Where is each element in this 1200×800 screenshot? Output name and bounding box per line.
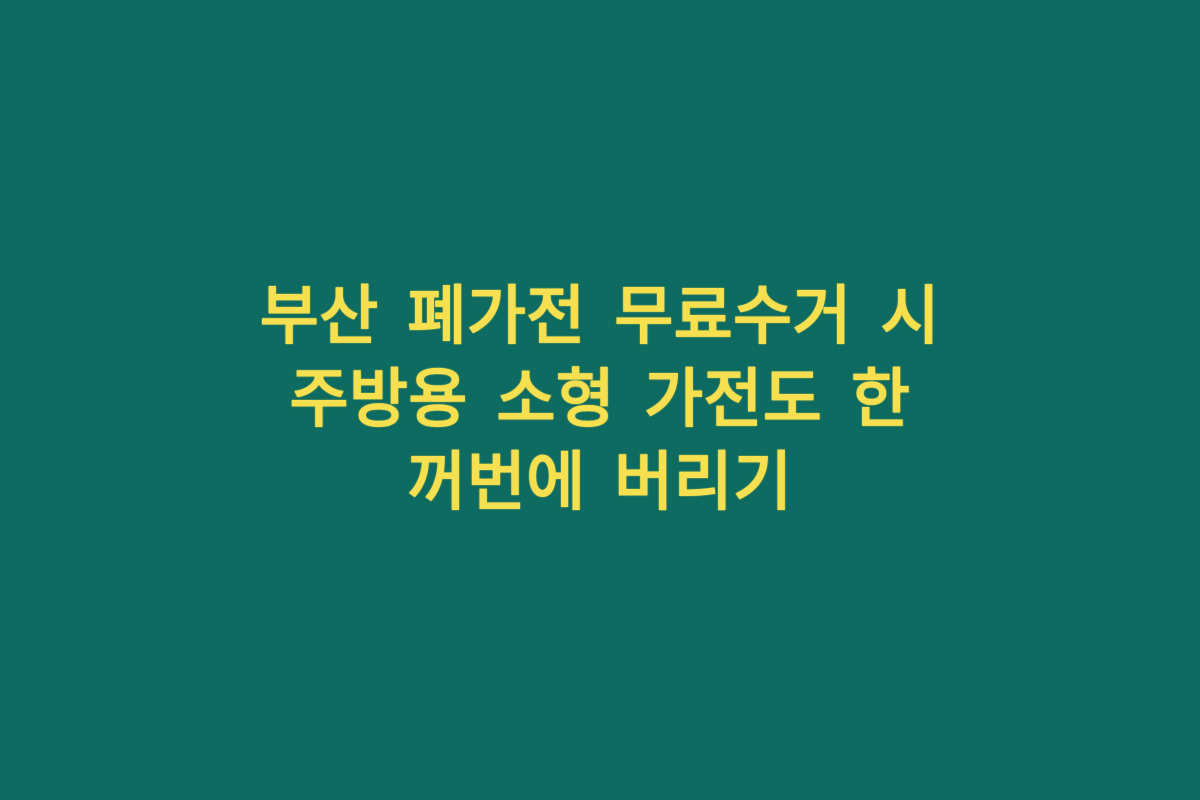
- headline-line-1: 부산 폐가전 무료수거 시: [50, 276, 1150, 359]
- headline-line-2: 주방용 소형 가전도 한: [50, 359, 1150, 442]
- headline-line-3: 꺼번에 버리기: [50, 442, 1150, 525]
- headline-text-block: 부산 폐가전 무료수거 시 주방용 소형 가전도 한 꺼번에 버리기: [50, 276, 1150, 525]
- thumbnail-canvas: 부산 폐가전 무료수거 시 주방용 소형 가전도 한 꺼번에 버리기: [0, 0, 1200, 800]
